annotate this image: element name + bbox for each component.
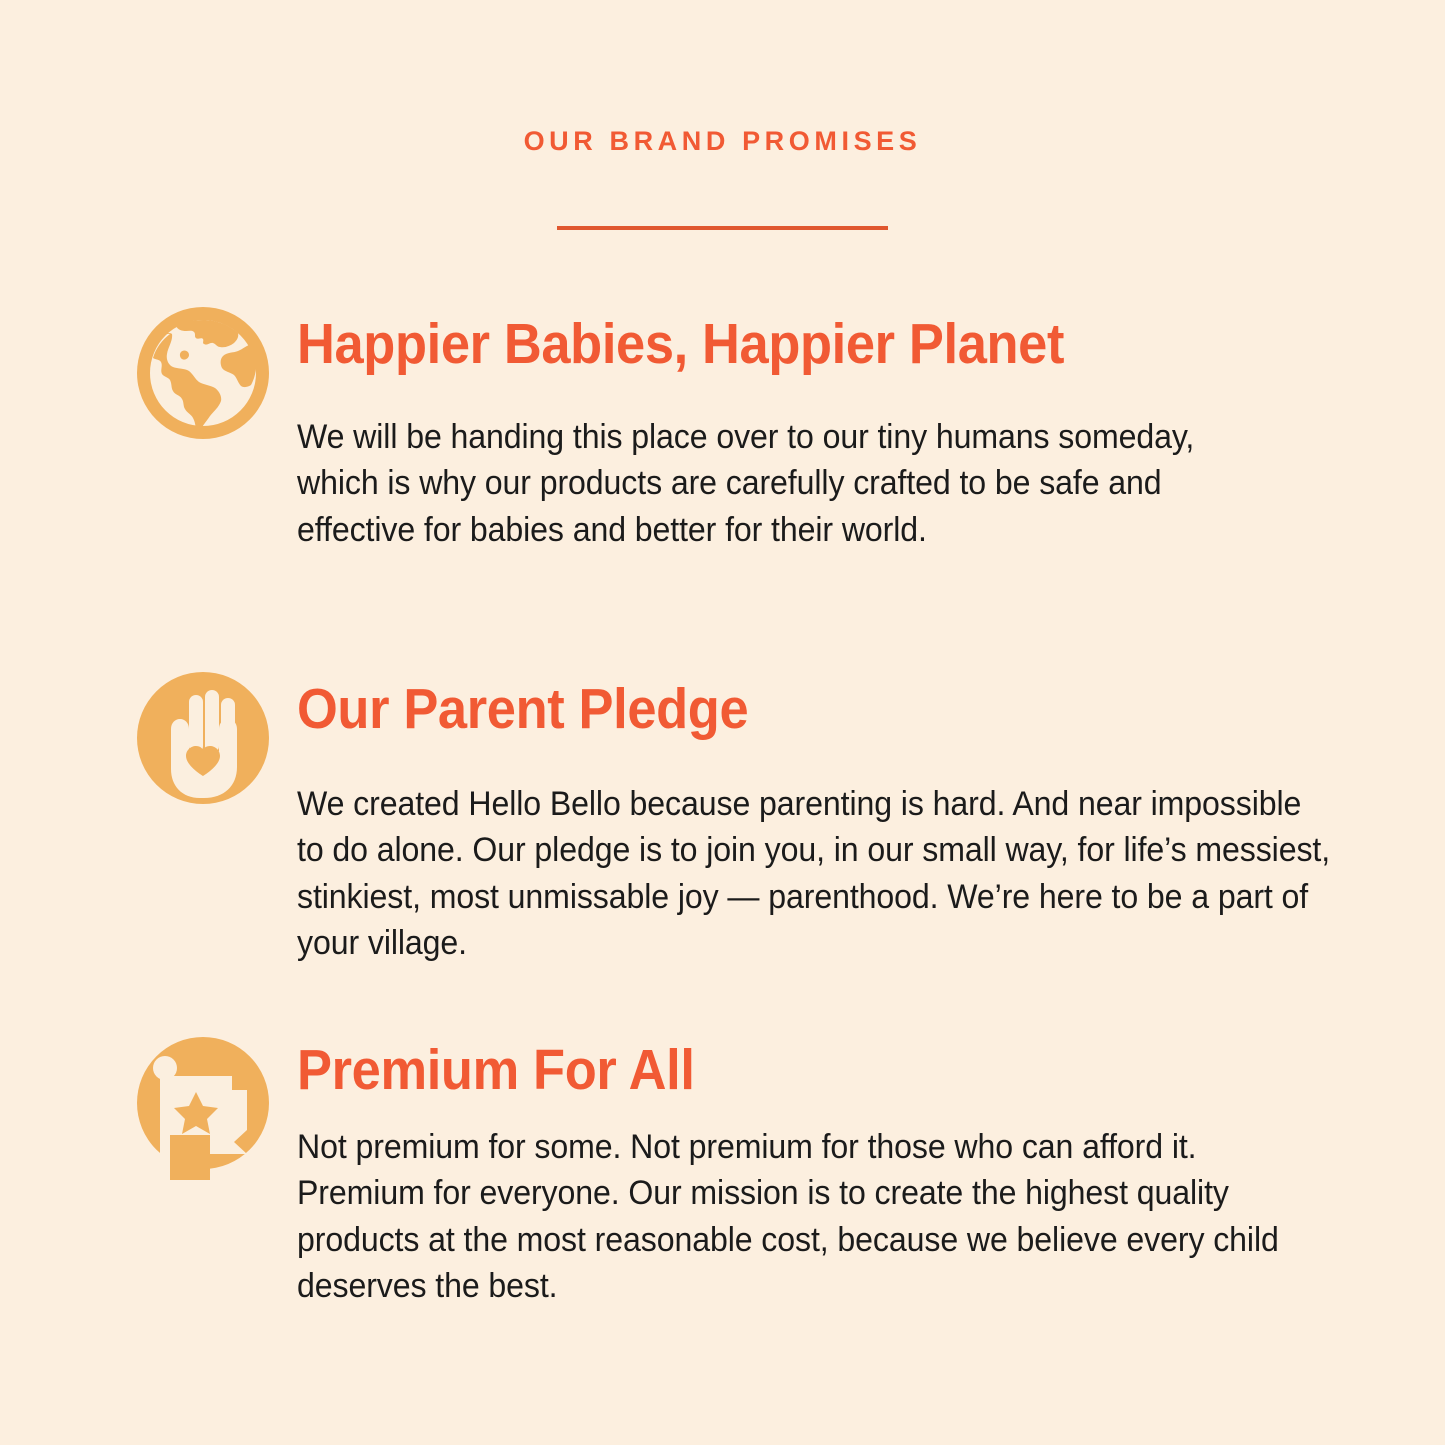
promise-title: Our Parent Pledge <box>297 679 1240 741</box>
hand-heart-icon <box>133 665 283 830</box>
brand-promises-page: OUR BRAND PROMISES Happier Babies, Happi… <box>0 0 1445 1445</box>
eyebrow-label: OUR BRAND PROMISES <box>524 128 922 155</box>
promise-title: Premium For All <box>297 1040 1240 1102</box>
promise-description: We created Hello Bello because parenting… <box>297 781 1334 967</box>
promise-description: We will be handing this place over to ou… <box>297 414 1274 554</box>
promise-content: Happier Babies, Happier Planet We will b… <box>297 300 1322 553</box>
globe-icon <box>133 300 283 465</box>
flag-star-icon <box>133 1030 283 1195</box>
promise-description: Not premium for some. Not premium for th… <box>297 1124 1320 1310</box>
header-divider <box>557 226 888 230</box>
promise-content: Our Parent Pledge We created Hello Bello… <box>297 665 1322 967</box>
promise-title: Happier Babies, Happier Planet <box>297 314 1240 376</box>
eyebrow-header: OUR BRAND PROMISES <box>0 128 1445 155</box>
promise-content: Premium For All Not premium for some. No… <box>297 1030 1322 1310</box>
